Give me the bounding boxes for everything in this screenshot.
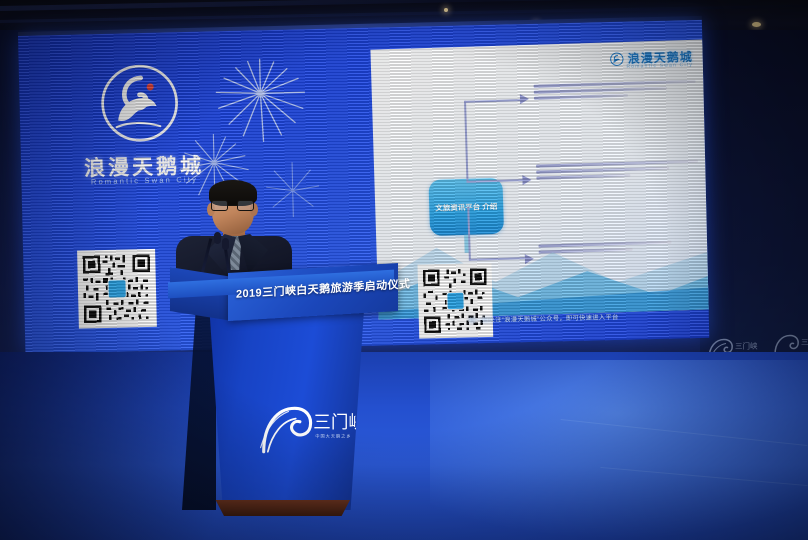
- glasses-icon: [211, 200, 255, 212]
- diagram-arrow-icon: [522, 175, 531, 185]
- slide-brand-name-en: Romantic Swan City: [626, 62, 693, 70]
- text-line: [536, 174, 630, 179]
- text-line: [534, 80, 696, 87]
- microphone-head: [222, 238, 229, 250]
- diagram-text-block: [536, 160, 698, 183]
- text-line: [536, 160, 698, 167]
- podium-swan-emblem: 三门峡 中国大天鹅之乡: [252, 398, 356, 460]
- diagram-text-block: [534, 80, 696, 103]
- glasses-bridge: [228, 205, 237, 206]
- firework-graphic: [257, 155, 329, 232]
- svg-text:三门峡: 三门峡: [801, 337, 808, 347]
- ceiling-spotlight: [752, 22, 761, 27]
- diagram-connector: [464, 99, 522, 181]
- ceiling-spotlight: [444, 8, 448, 12]
- glasses-lens: [237, 200, 254, 211]
- backdrop-wall-right: [700, 30, 808, 360]
- swan-roundel-icon: [97, 60, 183, 146]
- floor-light-glow: [430, 360, 808, 540]
- stage-scene: 三门峡 中国大天鹅之乡 三门峡 三门峡 中国大天鹅之乡: [0, 0, 808, 540]
- svg-text:三门峡: 三门峡: [735, 341, 758, 351]
- diagram-arrow-icon: [520, 94, 529, 104]
- wechat-icon: [446, 292, 464, 310]
- swan-roundel-icon: [610, 51, 624, 65]
- qr-pattern: [421, 266, 491, 336]
- microphone-head: [214, 232, 221, 244]
- qr-code-right: [417, 263, 493, 339]
- text-line: [534, 87, 667, 94]
- text-line: [536, 167, 669, 174]
- qr-code-left: [77, 249, 157, 329]
- svg-text:中国大天鹅之乡: 中国大天鹅之乡: [315, 432, 351, 438]
- svg-text:三门峡: 三门峡: [313, 412, 356, 432]
- qr-pattern: [80, 252, 154, 326]
- podium-base: [210, 500, 350, 516]
- text-line: [534, 94, 628, 99]
- glasses-lens: [211, 200, 228, 211]
- wechat-icon: [107, 279, 126, 298]
